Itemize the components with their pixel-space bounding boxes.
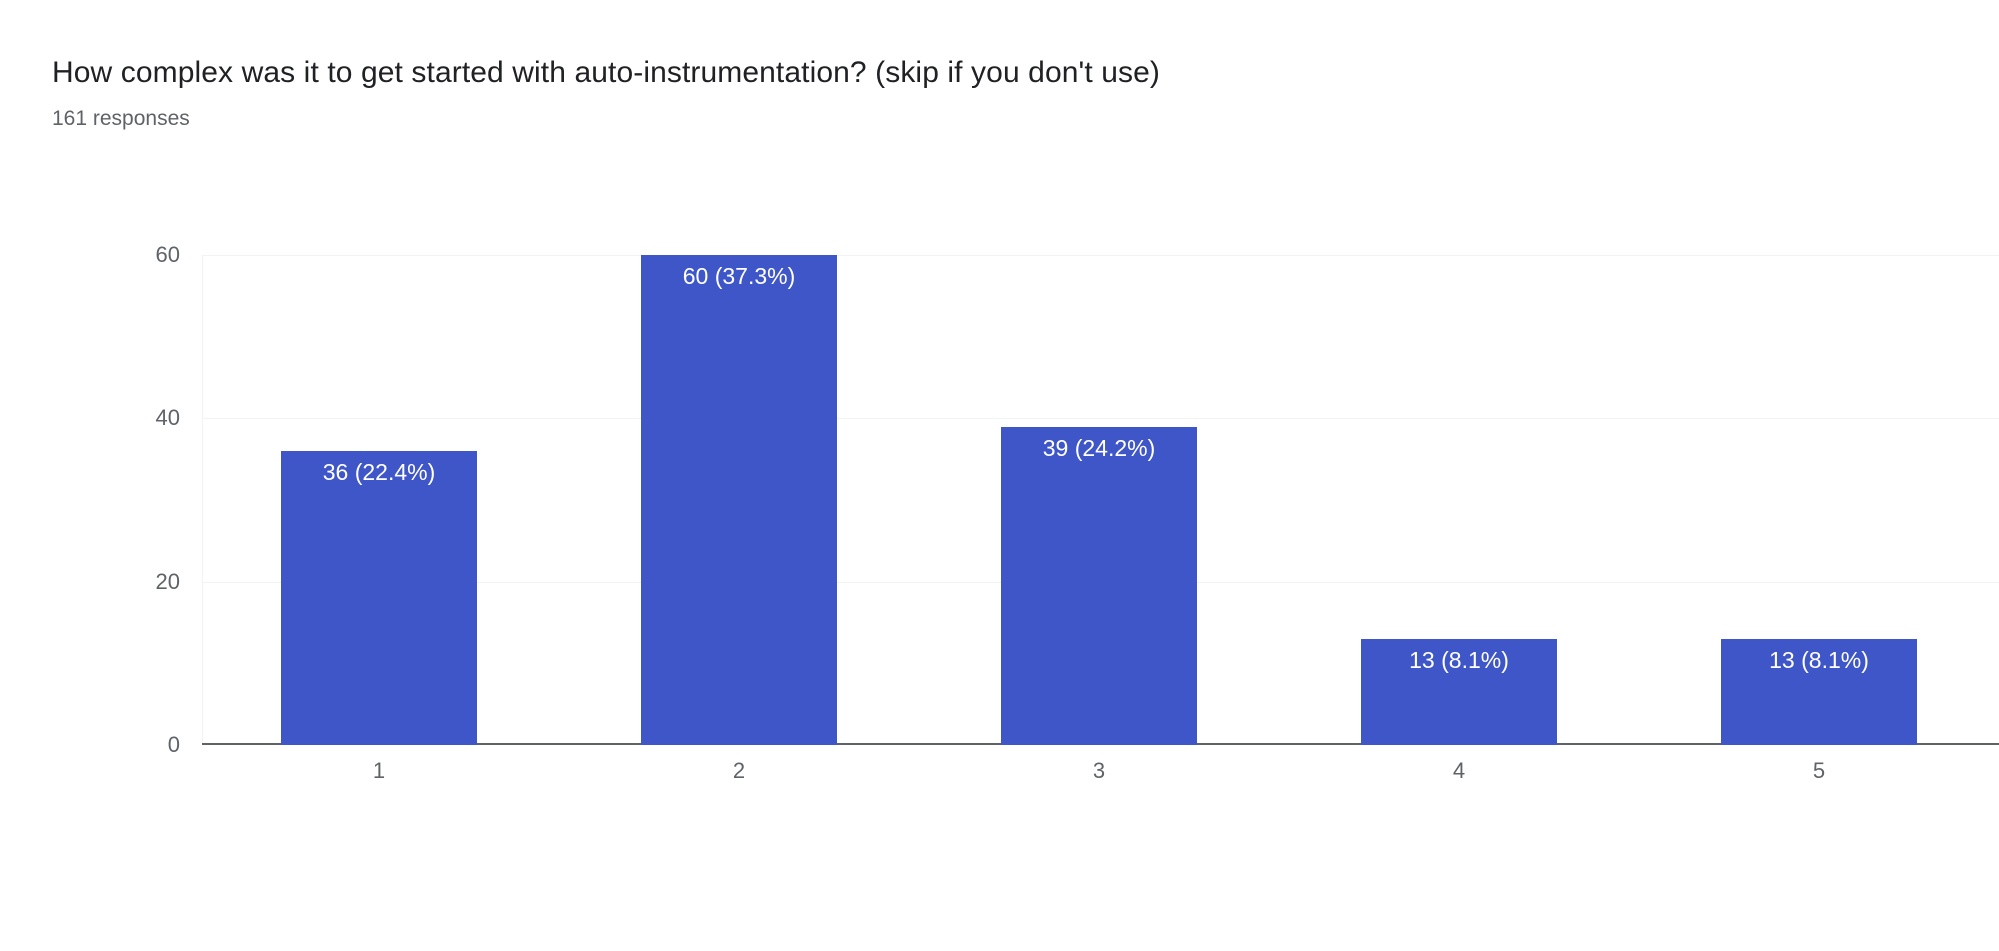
- response-count: 161 responses: [52, 105, 190, 133]
- bar[interactable]: 60 (37.3%): [641, 255, 837, 745]
- bar-column[interactable]: 13 (8.1%): [1361, 255, 1557, 745]
- bar-column[interactable]: 39 (24.2%): [1001, 255, 1197, 745]
- bar-series: 36 (22.4%)60 (37.3%)39 (24.2%)13 (8.1%)1…: [202, 255, 1999, 745]
- x-axis-tick-label: 2: [609, 758, 869, 784]
- bar-value-label: 13 (8.1%): [1361, 645, 1557, 675]
- bar-value-label: 60 (37.3%): [641, 261, 837, 291]
- bar-value-label: 13 (8.1%): [1721, 645, 1917, 675]
- bar-column[interactable]: 13 (8.1%): [1721, 255, 1917, 745]
- bar[interactable]: 13 (8.1%): [1721, 639, 1917, 745]
- bar-value-label: 39 (24.2%): [1001, 433, 1197, 463]
- form-response-chart-page: How complex was it to get started with a…: [0, 0, 1999, 951]
- y-axis-tick-label: 60: [60, 242, 180, 268]
- y-axis-tick-label: 0: [60, 732, 180, 758]
- bar[interactable]: 36 (22.4%): [281, 451, 477, 745]
- page-title: How complex was it to get started with a…: [52, 53, 1160, 93]
- bar[interactable]: 39 (24.2%): [1001, 427, 1197, 746]
- bar-column[interactable]: 36 (22.4%): [281, 255, 477, 745]
- bar-column[interactable]: 60 (37.3%): [641, 255, 837, 745]
- y-axis-tick-label: 40: [60, 405, 180, 431]
- bar-chart: 0204060 36 (22.4%)60 (37.3%)39 (24.2%)13…: [0, 160, 1999, 840]
- x-axis-tick-label: 5: [1689, 758, 1949, 784]
- bar[interactable]: 13 (8.1%): [1361, 639, 1557, 745]
- x-axis-tick-label: 3: [969, 758, 1229, 784]
- x-axis-tick-label: 4: [1329, 758, 1589, 784]
- x-axis-tick-label: 1: [249, 758, 509, 784]
- bar-value-label: 36 (22.4%): [281, 457, 477, 487]
- y-axis-tick-label: 20: [60, 569, 180, 595]
